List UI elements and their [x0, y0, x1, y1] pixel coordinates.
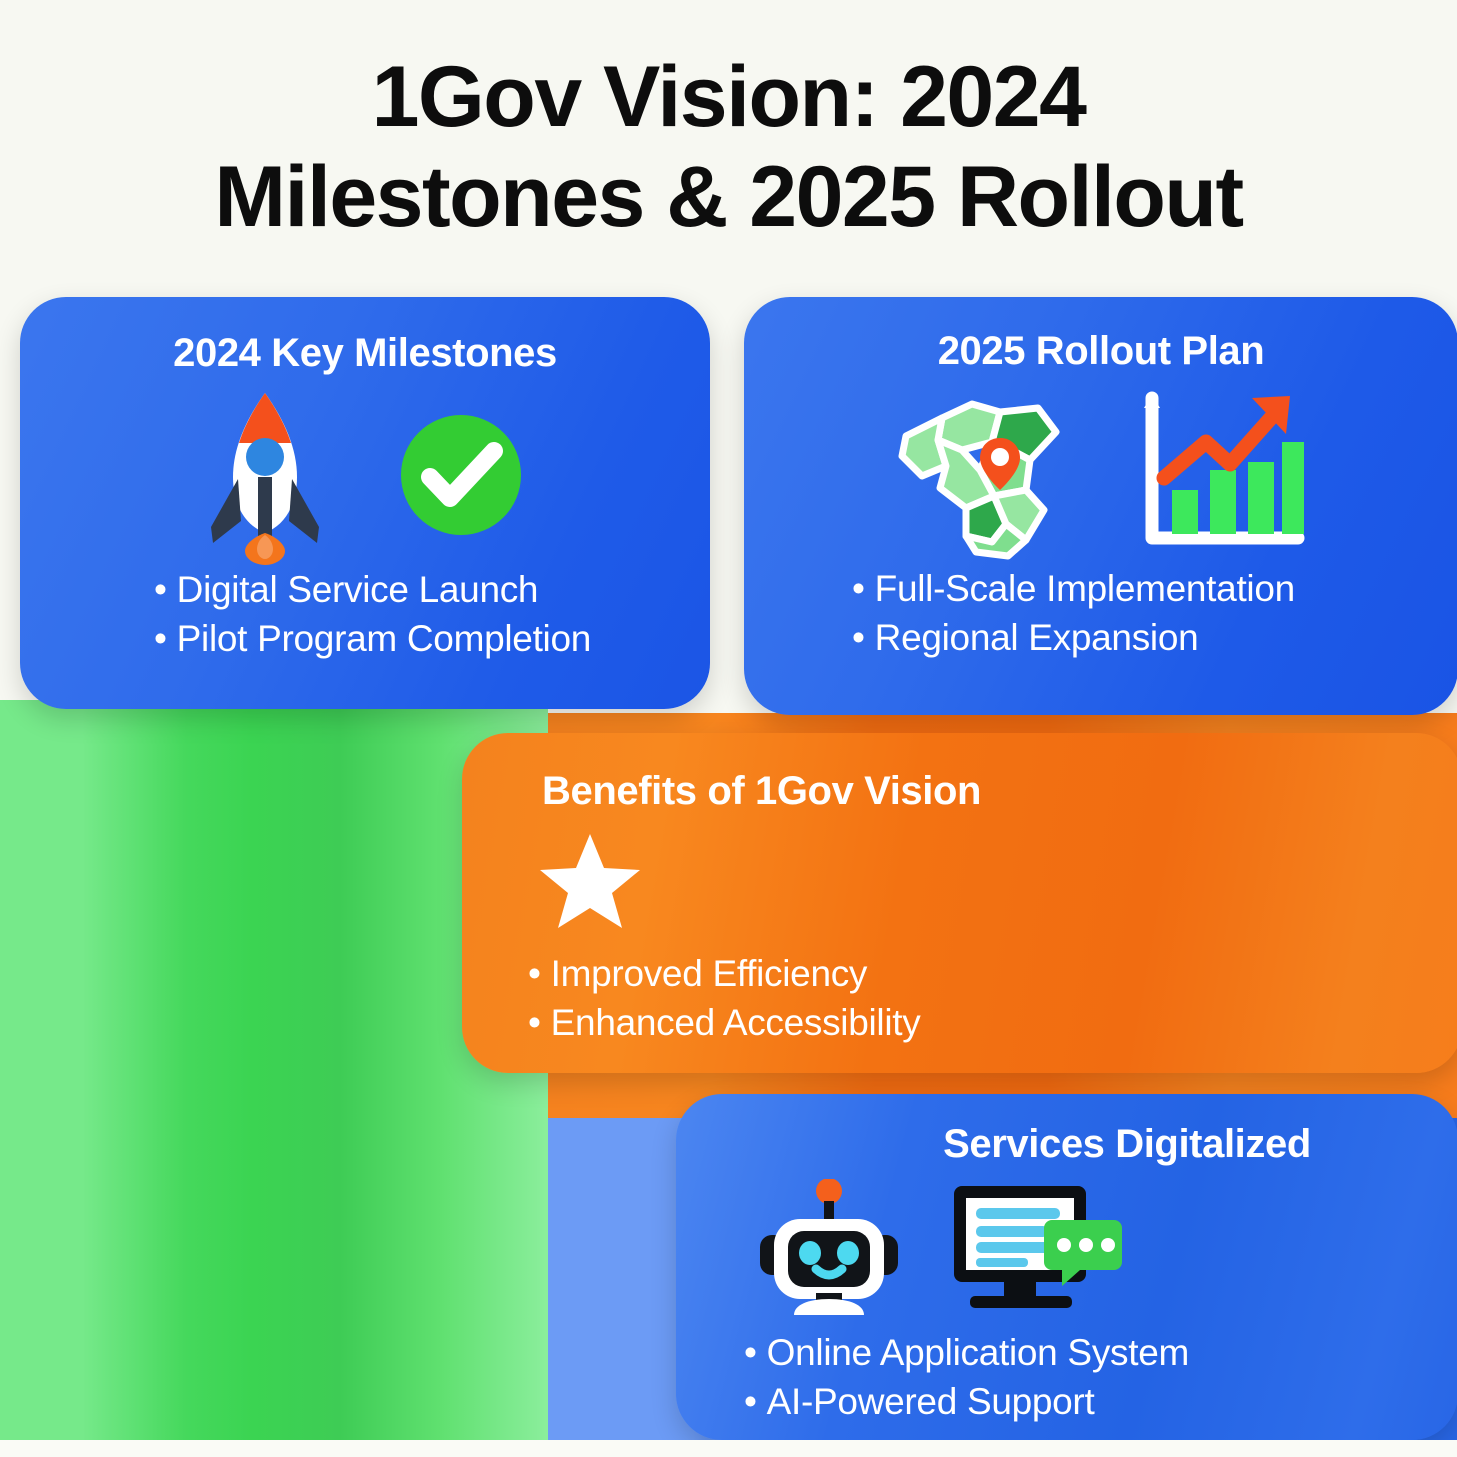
- milestones-bullet-list: •Digital Service Launch •Pilot Program C…: [20, 566, 710, 664]
- card-benefits-of-1gov-vision[interactable]: Benefits of 1Gov Vision •Improved Effici…: [462, 733, 1457, 1073]
- bullet-text: Enhanced Accessibility: [551, 1002, 921, 1043]
- growth-bar-chart-icon: [1130, 386, 1306, 558]
- list-item: •Regional Expansion: [852, 614, 1457, 663]
- regional-map-icon: [896, 384, 1068, 560]
- bullet-text: Pilot Program Completion: [177, 618, 591, 659]
- benefits-bullet-list: •Improved Efficiency •Enhanced Accessibi…: [462, 950, 1457, 1048]
- bullet-text: AI-Powered Support: [767, 1381, 1095, 1422]
- list-item: •AI-Powered Support: [744, 1378, 1457, 1427]
- bullet-text: Digital Service Launch: [177, 569, 539, 610]
- card-heading-benefits: Benefits of 1Gov Vision: [462, 769, 1457, 814]
- monitor-chat-icon: [946, 1182, 1124, 1312]
- card-heading-services: Services Digitalized: [676, 1122, 1457, 1167]
- page-title: 1Gov Vision: 2024 Milestones & 2025 Roll…: [0, 48, 1457, 248]
- bullet-marker: •: [744, 1329, 757, 1378]
- card-services-digitalized[interactable]: Services Digitalized: [676, 1094, 1457, 1440]
- bullet-marker: •: [852, 614, 865, 663]
- benefits-icon-row: [462, 832, 1457, 932]
- bullet-marker: •: [154, 615, 167, 664]
- rocket-icon: [205, 385, 325, 565]
- page-title-line-2: Milestones & 2025 Rollout: [0, 148, 1457, 248]
- bullet-marker: •: [528, 950, 541, 999]
- card-heading-milestones: 2024 Key Milestones: [20, 331, 710, 376]
- robot-icon: [754, 1179, 904, 1315]
- card-2024-key-milestones[interactable]: 2024 Key Milestones: [20, 297, 710, 709]
- card-2025-rollout-plan[interactable]: 2025 Rollout Plan: [744, 297, 1457, 715]
- bottom-margin-strip: [0, 1440, 1457, 1457]
- list-item: •Full-Scale Implementation: [852, 565, 1457, 614]
- bullet-marker: •: [744, 1378, 757, 1427]
- services-bullet-list: •Online Application System •AI-Powered S…: [676, 1329, 1457, 1427]
- list-item: •Digital Service Launch: [154, 566, 710, 615]
- services-icon-row: [676, 1177, 1457, 1317]
- list-item: •Pilot Program Completion: [154, 615, 710, 664]
- bullet-marker: •: [528, 999, 541, 1048]
- rollout-bullet-list: •Full-Scale Implementation •Regional Exp…: [744, 565, 1457, 663]
- card-heading-rollout: 2025 Rollout Plan: [744, 329, 1457, 374]
- bullet-marker: •: [154, 566, 167, 615]
- page-title-line-1: 1Gov Vision: 2024: [372, 49, 1086, 145]
- list-item: •Improved Efficiency: [528, 950, 1457, 999]
- bullet-text: Improved Efficiency: [551, 953, 867, 994]
- bullet-marker: •: [852, 565, 865, 614]
- bullet-text: Regional Expansion: [875, 617, 1199, 658]
- milestones-icon-row: [20, 390, 710, 560]
- bullet-text: Full-Scale Implementation: [875, 568, 1295, 609]
- list-item: •Online Application System: [744, 1329, 1457, 1378]
- check-circle-icon: [397, 411, 525, 539]
- star-icon: [538, 832, 1457, 932]
- rollout-icon-row: [744, 384, 1457, 559]
- list-item: •Enhanced Accessibility: [528, 999, 1457, 1048]
- bullet-text: Online Application System: [767, 1332, 1189, 1373]
- infographic-canvas: 1Gov Vision: 2024 Milestones & 2025 Roll…: [0, 0, 1457, 1457]
